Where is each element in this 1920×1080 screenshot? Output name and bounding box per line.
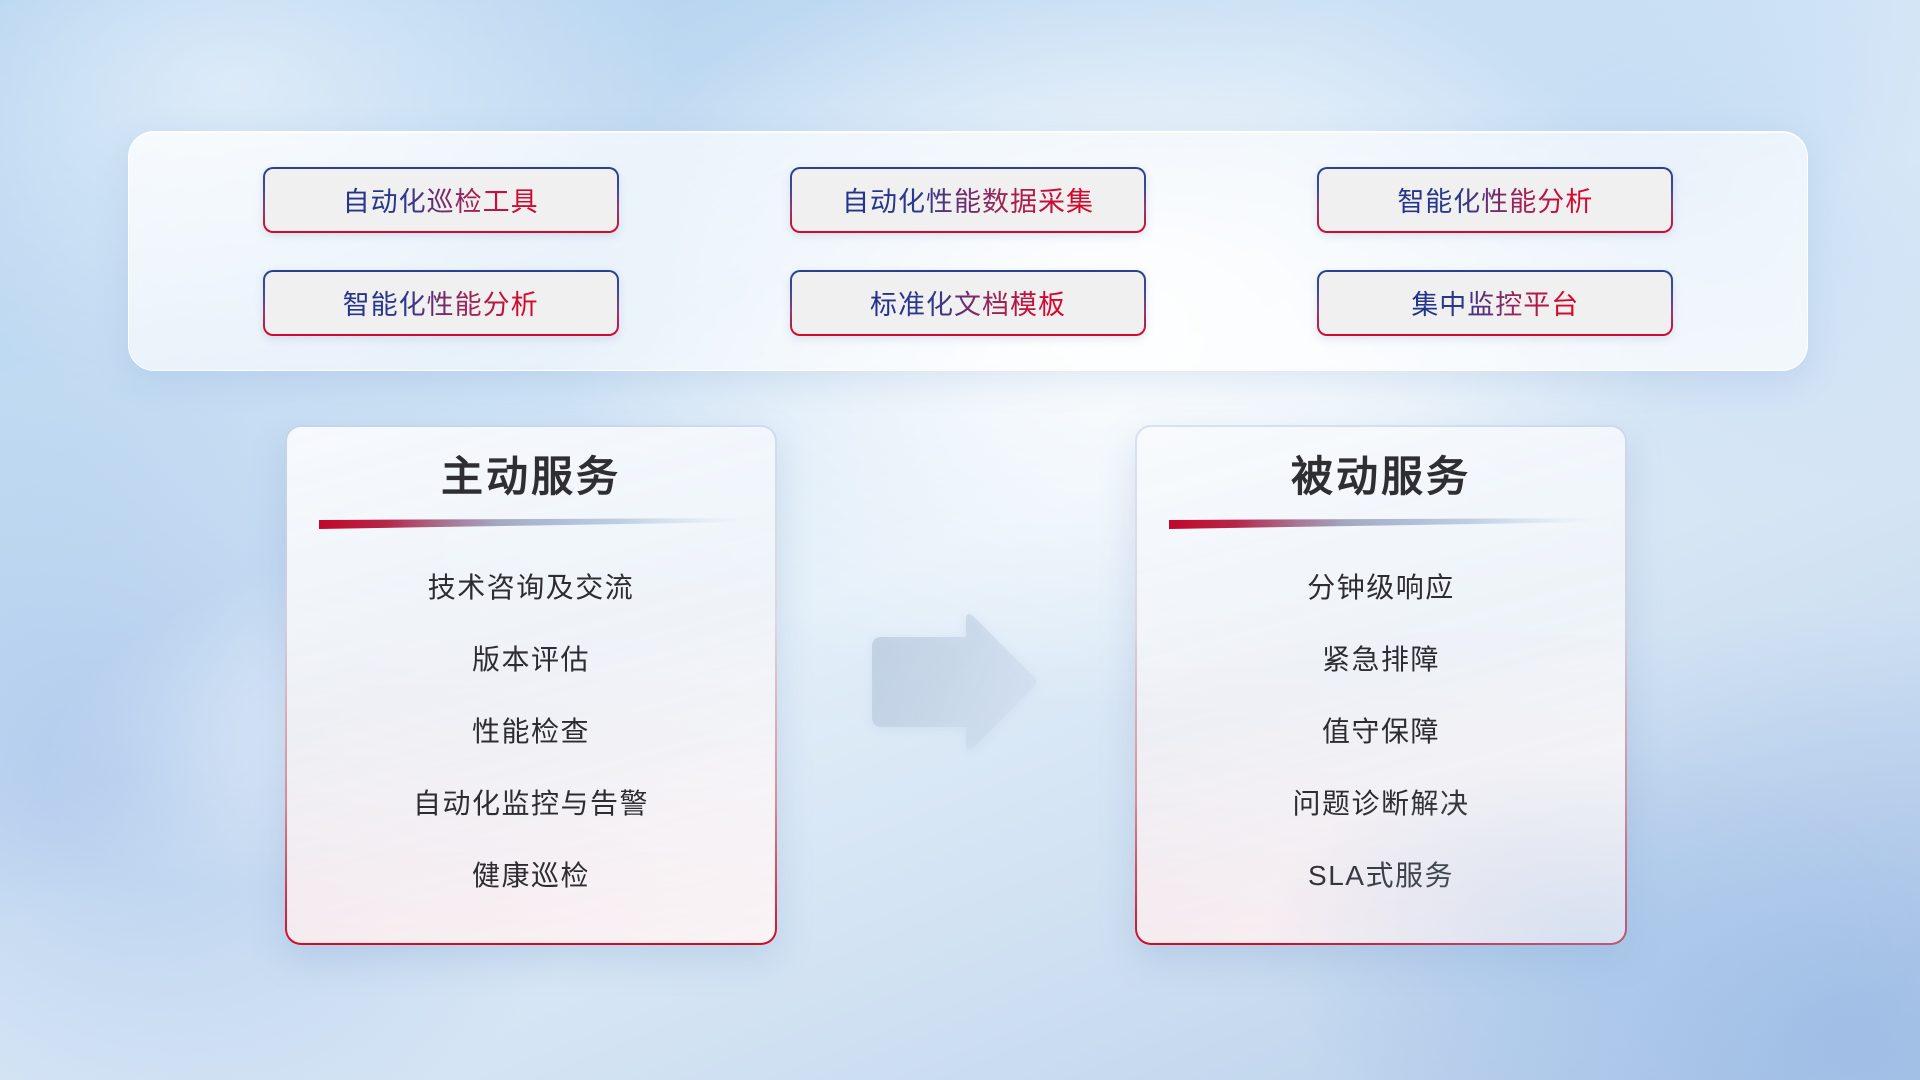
list-item: 问题诊断解决: [1292, 768, 1469, 840]
list-item: 值守保障: [1322, 696, 1440, 768]
service-card-reactive-list: 分钟级响应 紧急排障 值守保障 问题诊断解决 SLA式服务: [1137, 552, 1625, 912]
list-item: 自动化监控与告警: [413, 768, 649, 840]
service-card-reactive[interactable]: 被动服务 分钟级响应: [1135, 425, 1627, 945]
capability-pill-3-label: 智能化性能分析: [1397, 180, 1593, 219]
list-item: 技术咨询及交流: [428, 552, 635, 624]
capability-pill-6-label: 集中监控平台: [1411, 283, 1579, 322]
title-divider: [319, 518, 743, 530]
capability-pill-6[interactable]: 集中监控平台: [1317, 270, 1673, 336]
list-item: 紧急排障: [1322, 624, 1440, 696]
capability-pill-4[interactable]: 智能化性能分析: [263, 270, 619, 336]
capability-pill-1[interactable]: 自动化巡检工具: [263, 167, 619, 233]
capability-pill-4-body: 智能化性能分析: [265, 272, 617, 334]
slide-canvas: 自动化巡检工具 自动化性能数据采集 智能化性能分析 智能化性能分析 标准化文档模…: [0, 0, 1920, 1080]
capability-pill-5-body: 标准化文档模板: [792, 272, 1144, 334]
capability-pill-5[interactable]: 标准化文档模板: [790, 270, 1146, 336]
capability-pill-2-body: 自动化性能数据采集: [792, 169, 1144, 231]
service-card-proactive-body: 主动服务 技术咨询及交流: [287, 427, 775, 943]
service-card-proactive-title: 主动服务: [441, 451, 621, 504]
capability-pill-3[interactable]: 智能化性能分析: [1317, 167, 1673, 233]
capability-pill-3-body: 智能化性能分析: [1319, 169, 1671, 231]
title-divider: [1169, 518, 1593, 530]
list-item: 健康巡检: [472, 840, 590, 912]
capability-pill-6-body: 集中监控平台: [1319, 272, 1671, 334]
capability-pill-2[interactable]: 自动化性能数据采集: [790, 167, 1146, 233]
service-card-proactive[interactable]: 主动服务 技术咨询及交流: [285, 425, 777, 945]
capability-pill-1-body: 自动化巡检工具: [265, 169, 617, 231]
capability-pill-1-label: 自动化巡检工具: [343, 180, 539, 219]
list-item: 版本评估: [472, 624, 590, 696]
arrow-right-icon: [866, 613, 1038, 753]
capabilities-panel: 自动化巡检工具 自动化性能数据采集 智能化性能分析 智能化性能分析 标准化文档模…: [128, 131, 1808, 371]
service-card-reactive-body: 被动服务 分钟级响应: [1137, 427, 1625, 943]
capability-pill-2-label: 自动化性能数据采集: [842, 180, 1094, 219]
list-item: 性能检查: [472, 696, 590, 768]
capability-pill-4-label: 智能化性能分析: [343, 283, 539, 322]
list-item: SLA式服务: [1308, 840, 1454, 912]
service-card-proactive-list: 技术咨询及交流 版本评估 性能检查 自动化监控与告警 健康巡检: [287, 552, 775, 912]
service-card-reactive-title: 被动服务: [1291, 451, 1471, 504]
list-item: 分钟级响应: [1307, 552, 1455, 624]
capability-pill-5-label: 标准化文档模板: [870, 283, 1066, 322]
